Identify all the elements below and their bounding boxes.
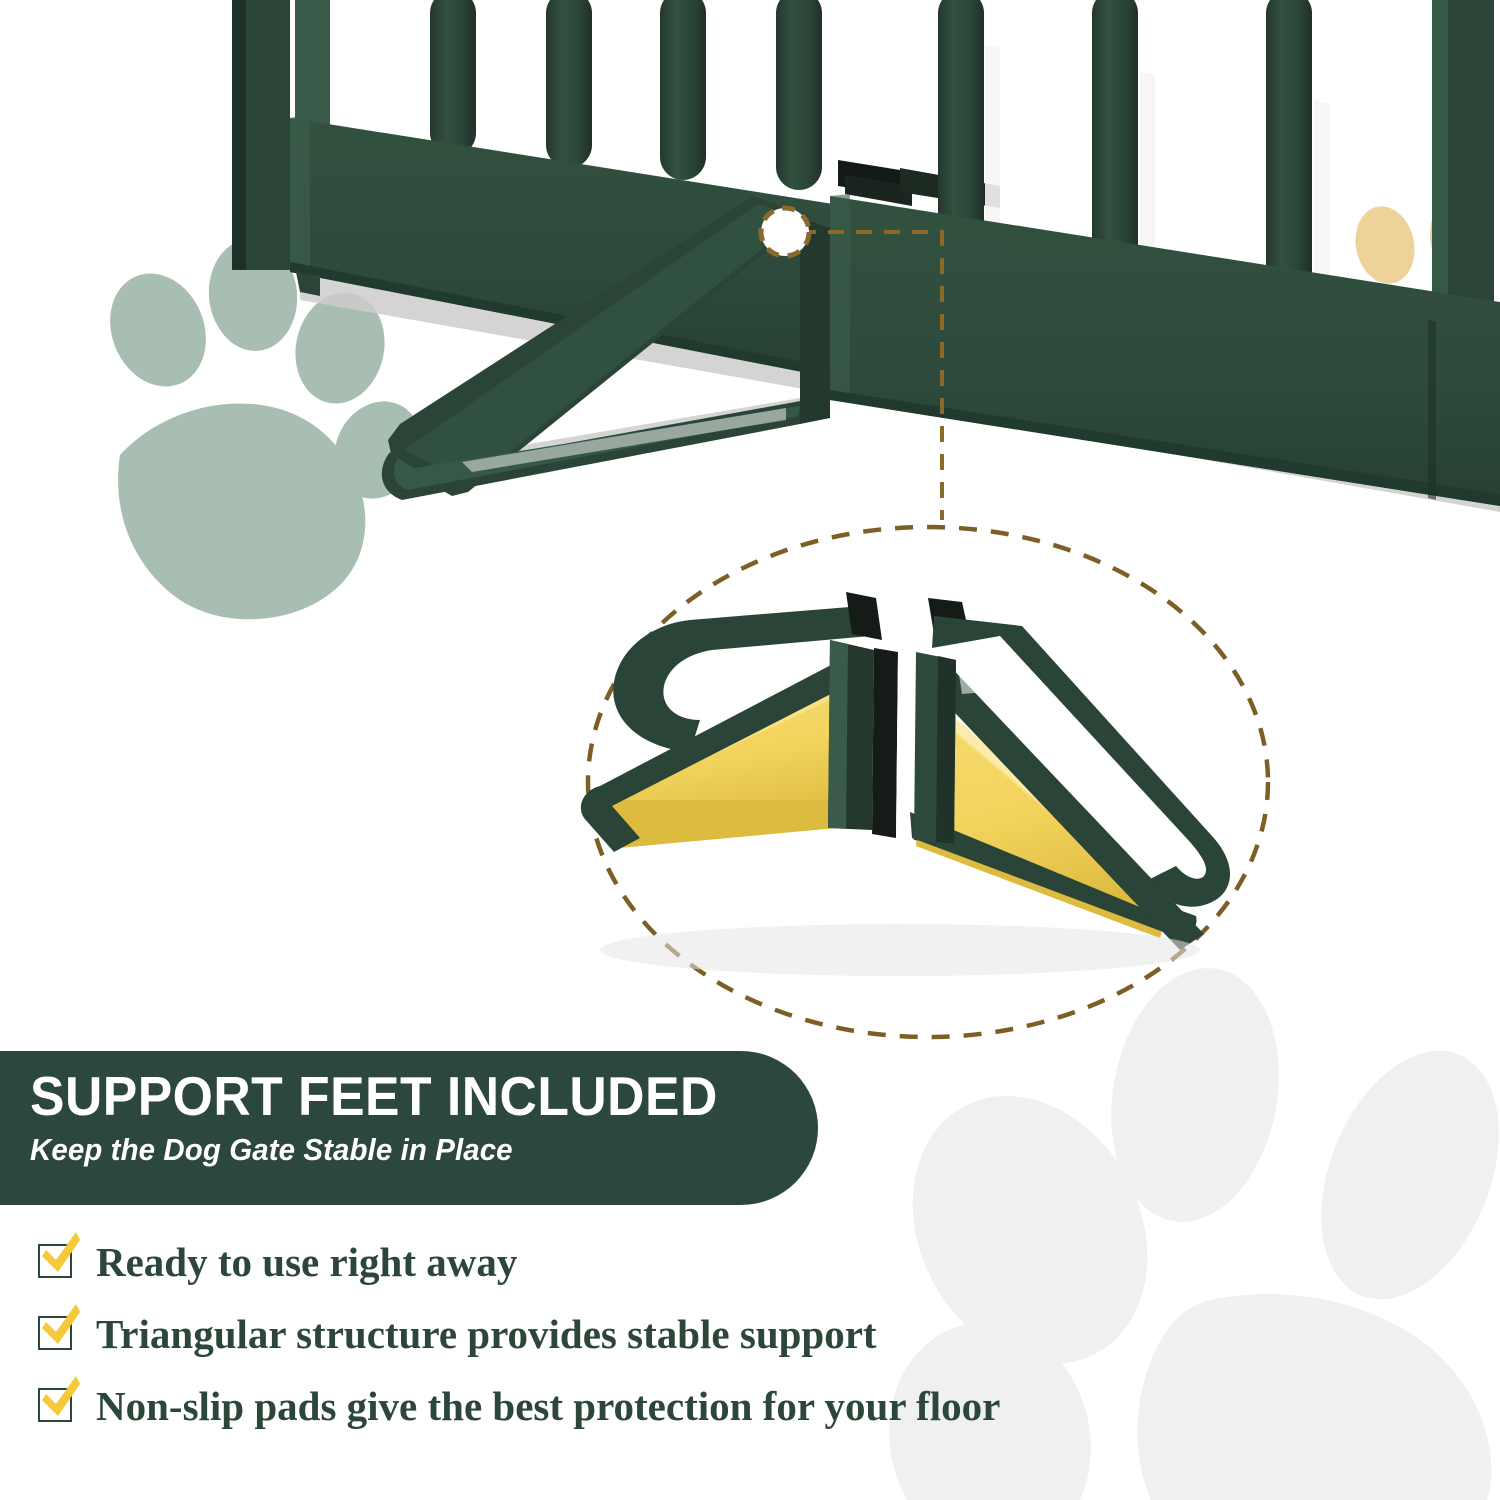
- feature-item: Non-slip pads give the best protection f…: [38, 1370, 1138, 1442]
- feature-item: Triangular structure provides stable sup…: [38, 1298, 1138, 1370]
- paw-print-sage-icon: [94, 235, 438, 620]
- gate-vertical-bars-left: [232, 0, 822, 270]
- gate-base-rail-right: [830, 194, 1500, 506]
- banner-subtitle: Keep the Dog Gate Stable in Place: [30, 1130, 779, 1170]
- support-foot-right-wing: [910, 598, 1230, 950]
- check-mark-icon: [36, 1374, 84, 1422]
- gate-support-foot-inscene: [382, 196, 830, 500]
- checkbox-checked-icon: [38, 1386, 78, 1426]
- support-foot-left-wing: [581, 592, 882, 852]
- detail-zoom-ellipse: [588, 527, 1268, 1037]
- support-foot-detail-product: [581, 592, 1230, 976]
- checkbox-checked-icon: [38, 1314, 78, 1354]
- gate-vertical-bars-right: [938, 0, 1494, 326]
- feature-item: Ready to use right away: [38, 1226, 1138, 1298]
- check-mark-icon: [36, 1230, 84, 1278]
- gate-left-panel: [232, 0, 833, 378]
- feature-label: Ready to use right away: [96, 1239, 517, 1285]
- headline-banner: SUPPORT FEET INCLUDED Keep the Dog Gate …: [0, 1051, 818, 1205]
- support-foot-center-slot: [872, 648, 918, 842]
- paw-print-tan-icon: [1349, 189, 1494, 360]
- gate-right-panel: [830, 0, 1500, 506]
- gate-floor-shadow: [300, 272, 1500, 512]
- check-mark-icon: [36, 1302, 84, 1350]
- gate-bar-highlights: [985, 45, 1330, 300]
- feature-label: Triangular structure provides stable sup…: [96, 1311, 877, 1357]
- gate-hinge-block: [838, 160, 1000, 208]
- checkbox-checked-icon: [38, 1242, 78, 1282]
- callout-dashed-route: [800, 232, 942, 520]
- callout-anchor-marker: [761, 208, 809, 256]
- product-marketing-image: SUPPORT FEET INCLUDED Keep the Dog Gate …: [0, 0, 1500, 1500]
- feature-label: Non-slip pads give the best protection f…: [96, 1383, 1000, 1429]
- banner-title: SUPPORT FEET INCLUDED: [30, 1065, 771, 1127]
- gate-base-rail-left: [290, 114, 833, 378]
- feature-list: Ready to use right away Triangular struc…: [38, 1226, 1138, 1442]
